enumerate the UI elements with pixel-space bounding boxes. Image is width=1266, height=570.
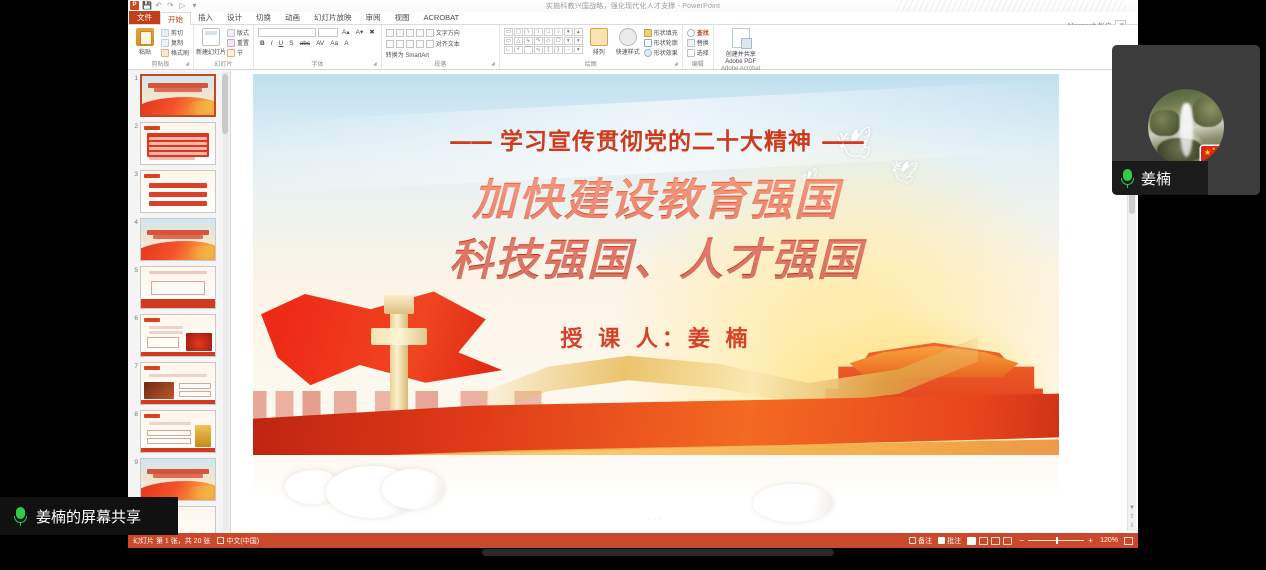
microphone-icon[interactable] [1121,169,1134,188]
tab-review[interactable]: 审阅 [359,11,388,24]
shape-scroll-dn-icon[interactable]: ▾ [574,37,583,45]
paragraph-dialog-launcher-icon[interactable]: ◢ [491,60,495,68]
zoom-out-button[interactable]: − [1018,537,1025,545]
shape-effects-label: 形状效果 [654,48,678,57]
shape-gallery-more-icon[interactable]: ▾ [574,46,583,54]
columns-icon[interactable] [426,40,434,48]
shape-line-icon[interactable]: \ [524,28,533,36]
reset-button[interactable]: 重置 [227,38,249,47]
fit-slide-to-window-button[interactable] [1124,537,1133,545]
layout-icon [227,29,235,37]
copy-button[interactable]: 复制 [161,38,189,47]
align-center-icon[interactable] [396,40,404,48]
thumbnail-row[interactable]: 2 [130,122,230,165]
ribbon-group-editing: 查找 替换 选择 编辑 [683,25,714,69]
shared-powerpoint-window: P 💾 ↶ ↷ ▷ ▾ 实施科教兴国战略，强化现代化人才支撑 - PowerPo… [128,0,1138,548]
reading-view-button[interactable] [991,537,1000,545]
quick-styles-label: 快速样式 [616,47,640,56]
shape-arrow-icon[interactable]: \ [534,28,543,36]
find-button[interactable]: 查找 [687,28,709,37]
previous-slide-icon[interactable]: ⇧ [1128,513,1136,522]
ribbon-tabstrip: 文件 开始 插入 设计 切换 动画 幻灯片放映 审阅 视图 ACROBAT Mi… [128,12,1138,25]
bold-button[interactable]: B [258,39,267,48]
shape-triangle-icon[interactable]: △ [514,37,523,45]
replace-label: 替换 [697,38,709,47]
tab-home[interactable]: 开始 [160,12,191,25]
slide-thumbnail-8[interactable] [140,410,216,453]
slides-group-title: 幻灯片 [198,61,249,69]
font-name-input[interactable] [258,28,316,37]
tab-insert[interactable]: 插入 [191,11,220,24]
ribbon-group-clipboard: 粘贴 剪切 复制 格式刷 [128,25,194,69]
editing-title-text: 编辑 [692,62,704,68]
screen-share-indicator: 姜楠的屏幕共享 [0,497,178,535]
tab-view[interactable]: 视图 [388,11,417,24]
slide-bottom-dots: ··· [253,516,1059,523]
shape-pentagon-icon[interactable]: ⬠ [554,37,563,45]
decrease-font-size-icon[interactable]: A▾ [354,28,366,37]
tab-slideshow[interactable]: 幻灯片放映 [307,11,359,24]
slide-editing-stage[interactable]: 🕊 🕊 🕊 —— 学习宣传贯彻党的二十大精神 —— 加快建设教育强国 科技强国、… [231,70,1138,533]
shapes-gallery[interactable]: ▭ ▢ \ \ □ ○ ▾ ▴ ▭ △ ↳ ↷ ◇ ⬠ ▾ [504,26,583,54]
change-case-button[interactable]: Aa [328,39,340,48]
slide-thumbnail-6[interactable] [140,314,216,357]
thumbnail-scrollbar-thumb[interactable] [222,74,228,134]
eyebrow-label: 学习宣传贯彻党的二十大精神 [500,128,812,155]
eyebrow-dash-right: —— [821,128,863,155]
tab-design[interactable]: 设计 [220,11,249,24]
next-slide-icon[interactable]: ⇩ [1128,522,1136,531]
microphone-icon[interactable] [14,507,27,526]
font-size-input[interactable] [318,28,338,37]
slide-thumbnail-5[interactable] [140,266,216,309]
layout-button[interactable]: 版式 [227,28,249,37]
thumbnail-row[interactable]: 9 [130,458,230,501]
avatar: ★ ★ ★ ★ ★ [1148,89,1224,165]
arrange-icon [590,28,608,46]
ribbon-group-drawing: ▭ ▢ \ \ □ ○ ▾ ▴ ▭ △ ↳ ↷ ◇ ⬠ ▾ [500,25,683,69]
shape-fill-icon [644,29,652,37]
quick-styles-icon [619,28,637,46]
language-label: 中文(中国) [226,536,259,546]
decrease-indent-icon[interactable] [406,29,414,37]
font-group-title: 字体 ◢ [258,61,377,69]
language-icon [217,537,224,544]
slide-thumbnail-pane[interactable]: 1 2 [128,70,231,533]
slide-thumbnail-9[interactable] [140,458,216,501]
title-line-1: 加快建设教育强国 [253,171,1059,230]
shape-diamond-icon[interactable]: ◇ [544,37,553,45]
section-button[interactable]: 节 [227,48,249,57]
paragraph-group-title: 段落 ◢ [386,61,495,69]
slide-main-title[interactable]: 加快建设教育强国 科技强国、人才强国 [253,171,1059,290]
text-direction-label[interactable]: 文字方向 [436,28,460,37]
underline-button[interactable]: U [277,39,286,48]
create-share-pdf-button[interactable]: 创建并共享 Adobe PDF [718,26,764,65]
replace-icon [687,39,695,47]
drawing-title-text: 绘图 [585,62,597,68]
slide-count-text: 幻灯片 第 1 张，共 20 张 [133,536,210,546]
new-slide-label: 新建幻灯片 [196,47,226,56]
shape-effects-button[interactable]: 形状效果 [644,48,678,57]
notes-button[interactable]: 备注 [909,536,932,546]
slide-eyebrow-text[interactable]: —— 学习宣传贯彻党的二十大精神 —— [253,122,1059,156]
select-button[interactable]: 选择 [687,48,709,57]
align-text-label[interactable]: 对齐文本 [436,39,460,48]
line-spacing-icon[interactable] [426,29,434,37]
shape-rect-icon[interactable]: ▭ [504,28,513,36]
thumbnail-row[interactable]: 7 [130,362,230,405]
create-share-pdf-label-1: 创建并共享 [726,49,756,58]
cloud-puff-graphic [382,469,444,509]
shape-outline-icon [644,39,652,47]
font-dialog-launcher-icon[interactable]: ◢ [373,60,377,68]
thumbnail-row[interactable]: 4 [130,218,230,261]
shape-curve2-icon[interactable]: ∿ [534,46,543,54]
participant-video-tile[interactable]: ★ ★ ★ ★ ★ 姜楠 [1112,45,1260,195]
thumbnail-pane-scrollbar[interactable] [223,72,229,531]
new-slide-icon [202,28,220,46]
reset-icon [227,39,235,47]
slides-title-text: 幻灯片 [215,62,233,68]
participant-name-bar: 姜楠 [1112,161,1208,195]
shape-arc-icon[interactable]: ↷ [534,37,543,45]
copy-icon [161,39,169,47]
shape-scroll-up-icon[interactable]: ▴ [574,28,583,36]
screen-share-label: 姜楠的屏幕共享 [36,506,141,527]
tab-animations[interactable]: 动画 [278,11,307,24]
shape-corner-icon[interactable]: ∟ [504,46,513,54]
thumbnail-row[interactable]: 3 [130,170,230,213]
comments-button[interactable]: 批注 [938,536,961,546]
slide-thumbnail-3[interactable] [140,170,216,213]
select-label: 选择 [697,48,709,57]
reset-label: 重置 [237,38,249,47]
normal-view-button[interactable] [967,537,976,545]
workarea: 1 2 [128,70,1138,533]
shape-effects-icon [644,49,652,57]
participant-name: 姜楠 [1141,168,1171,189]
font-title-text: 字体 [311,62,323,68]
convert-smartart-label[interactable]: 转换为 SmartArt [386,50,429,59]
title-line-2: 科技强国、人才强国 [253,231,1059,290]
shared-screen-horizontal-scrollbar[interactable] [482,549,834,556]
align-right-icon[interactable] [406,40,414,48]
thumbnail-row[interactable]: 8 [130,410,230,453]
current-slide[interactable]: 🕊 🕊 🕊 —— 学习宣传贯彻党的二十大精神 —— 加快建设教育强国 科技强国、… [253,74,1059,527]
status-bar: 幻灯片 第 1 张，共 20 张 中文(中国) 备注 批注 [128,533,1138,548]
clipboard-dialog-launcher-icon[interactable]: ◢ [185,60,189,68]
thumbnail-number: 7 [130,362,138,370]
shape-fill-label: 形状填充 [654,28,678,37]
thumbnail-number: 2 [130,122,138,130]
titlebar-decoration [896,0,1126,12]
strikethrough-button[interactable]: abc [298,39,312,48]
italic-button[interactable]: I [269,39,275,48]
cut-label: 剪切 [171,28,183,37]
slideshow-view-button[interactable] [1003,537,1012,545]
justify-icon[interactable] [416,40,424,48]
shape-more-icon[interactable]: ▾ [564,28,573,36]
shape-connector-icon[interactable]: □ [544,28,553,36]
thumbnail-number: 8 [130,410,138,418]
scissors-icon [161,29,169,37]
section-icon [227,49,235,57]
paste-button[interactable]: 粘贴 [132,26,158,56]
thumbnail-row[interactable]: 5 [130,266,230,309]
font-color-button[interactable]: A [342,39,350,48]
thumbnail-number: 6 [130,314,138,322]
zoom-slider[interactable]: − + [1018,537,1094,545]
arrange-label: 排列 [593,47,605,56]
slide-thumbnail-1[interactable] [140,74,216,117]
eyebrow-dash-left: —— [449,128,491,155]
shape-fill-button[interactable]: 形状填充 [644,28,678,37]
new-slide-button[interactable]: 新建幻灯片 [198,26,224,56]
numbering-icon[interactable] [396,29,404,37]
shape-more2-icon[interactable]: ▾ [564,37,573,45]
shape-brace2-icon[interactable]: } [554,46,563,54]
format-painter-label: 格式刷 [171,48,189,57]
arrange-button[interactable]: 排列 [586,26,612,56]
view-switcher[interactable] [967,537,1012,545]
shape-curve-icon[interactable]: ↳ [524,37,533,45]
tab-transitions[interactable]: 切换 [249,11,278,24]
paragraph-title-text: 段落 [434,62,446,68]
ribbon-group-paragraph: 文字方向 对齐文本 转换为 SmartArt 段落 [382,25,500,69]
ribbon-group-slides: 新建幻灯片 版式 重置 节 [194,25,254,69]
clipboard-group-title: 剪贴板 ◢ [132,61,189,69]
clipboard-title-text: 剪贴板 [152,62,170,68]
tab-file[interactable]: 文件 [129,11,160,24]
layout-label: 版式 [237,28,249,37]
slide-thumbnail-2[interactable] [140,122,216,165]
thumbnail-number: 5 [130,266,138,274]
search-icon [687,29,695,37]
shape-arc2-icon[interactable]: ⌒ [524,46,533,54]
ribbon-body: 粘贴 剪切 复制 格式刷 [128,25,1138,70]
comments-label: 批注 [947,536,961,546]
zoom-percent-label[interactable]: 120% [1100,537,1118,544]
shape-brace-icon[interactable]: { [544,46,553,54]
thumbnail-number: 3 [130,170,138,178]
paste-icon [136,28,154,46]
thumbnail-number: 1 [130,74,138,82]
increase-indent-icon[interactable] [416,29,424,37]
zoom-left-letterbox [0,0,128,570]
paste-label: 粘贴 [139,47,151,56]
shape-lightning-icon[interactable]: ⚡ [514,46,523,54]
drawing-group-title: 绘图 ◢ [504,61,678,69]
notes-label: 备注 [918,536,932,546]
align-left-icon[interactable] [386,40,394,48]
drawing-dialog-launcher-icon[interactable]: ◢ [674,60,678,68]
slide-thumbnail-4[interactable] [140,218,216,261]
replace-button[interactable]: 替换 [687,38,709,47]
zoom-in-button[interactable]: + [1087,537,1094,545]
shape-rect2-icon[interactable]: ▭ [504,37,513,45]
select-icon [687,49,695,57]
comment-icon [938,537,945,544]
bullets-icon[interactable] [386,29,394,37]
shape-roundrect-icon[interactable]: ▢ [514,28,523,36]
language-indicator[interactable]: 中文(中国) [217,536,259,546]
text-shadow-button[interactable]: S [287,39,295,48]
editing-group-title: 编辑 [687,61,709,69]
ribbon-group-font: A▴ A▾ ✖ B I U S abc AV Aa A [254,25,382,69]
copy-label: 复制 [171,38,183,47]
quick-styles-button[interactable]: 快速样式 [615,26,641,56]
notes-icon [909,537,916,544]
ribbon-group-acrobat: 创建并共享 Adobe PDF Adobe Acrobat [714,25,768,69]
pdf-icon [732,28,750,48]
clear-formatting-icon[interactable]: ✖ [367,28,376,37]
scroll-down-icon[interactable]: ▼ [1128,504,1136,513]
thumbnail-number: 4 [130,218,138,226]
paintbrush-icon [161,49,169,57]
shape-outline-button[interactable]: 形状轮廓 [644,38,678,47]
find-label: 查找 [697,28,709,37]
screen-root: P 💾 ↶ ↷ ▷ ▾ 实施科教兴国战略，强化现代化人才支撑 - PowerPo… [0,0,1266,570]
cut-button[interactable]: 剪切 [161,28,189,37]
section-label: 节 [237,48,243,57]
huabiao-pillar-graphic [390,310,408,428]
thumbnail-number: 9 [130,458,138,466]
shape-outline-label: 形状轮廓 [654,38,678,47]
character-spacing-button[interactable]: AV [314,39,326,48]
format-painter-button[interactable]: 格式刷 [161,48,189,57]
slide-sorter-view-button[interactable] [979,537,988,545]
zoom-track[interactable] [1028,540,1084,541]
shape-dots-icon[interactable]: ⋯ [564,46,573,54]
slide-thumbnail-7[interactable] [140,362,216,405]
increase-font-size-icon[interactable]: A▴ [340,28,352,37]
thumbnail-row[interactable]: 1 [130,74,230,117]
zoom-knob[interactable] [1056,537,1058,544]
tab-acrobat[interactable]: ACROBAT [417,11,467,24]
thumbnail-row[interactable]: 6 [130,314,230,357]
shape-oval-icon[interactable]: ○ [554,28,563,36]
